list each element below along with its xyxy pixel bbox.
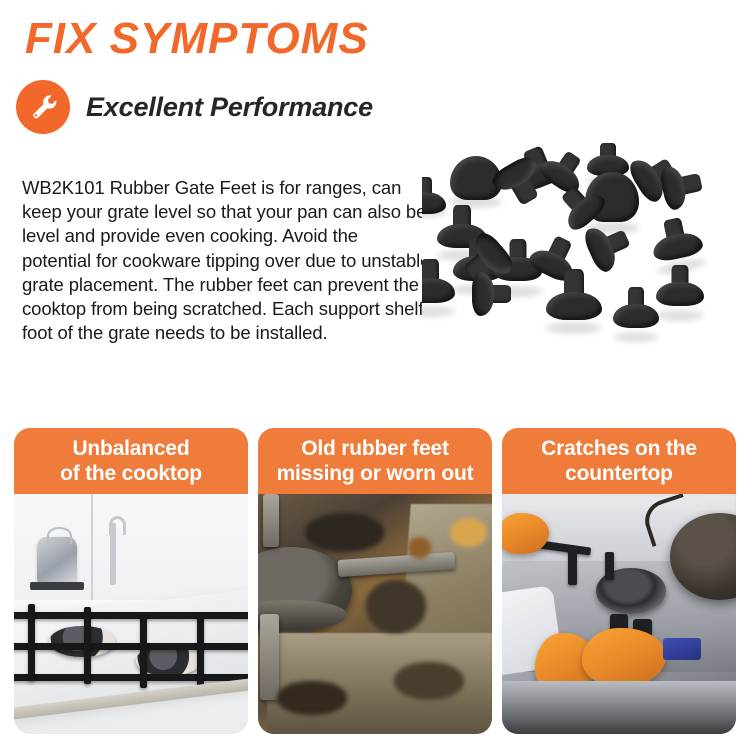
card-title: Old rubber feet missing or worn out bbox=[258, 428, 492, 494]
wrench-icon bbox=[16, 80, 70, 134]
symptom-card-unbalanced[interactable]: Unbalanced of the cooktop bbox=[14, 428, 248, 734]
symptom-card-scratches[interactable]: Cratches on the countertop bbox=[502, 428, 736, 734]
card-title-line1: Old rubber feet bbox=[301, 437, 449, 460]
page-title: FIX SYMPTOMS bbox=[25, 16, 369, 62]
symptom-cards: Unbalanced of the cooktop bbox=[14, 428, 736, 734]
subtitle: Excellent Performance bbox=[86, 92, 373, 123]
description-text: WB2K101 Rubber Gate Feet is for ranges, … bbox=[22, 176, 432, 345]
card-photo-clean-cooktop bbox=[14, 494, 248, 734]
product-image bbox=[422, 142, 740, 354]
promo-page: FIX SYMPTOMS Excellent Performance WB2K1… bbox=[0, 0, 750, 750]
card-title: Unbalanced of the cooktop bbox=[14, 428, 248, 494]
card-title-line1: Cratches on the bbox=[541, 437, 697, 460]
card-title: Cratches on the countertop bbox=[502, 428, 736, 494]
card-photo-dirty-burner bbox=[258, 494, 492, 734]
card-title-line1: Unbalanced bbox=[72, 437, 189, 460]
card-title-line2: of the cooktop bbox=[60, 462, 202, 485]
subtitle-row: Excellent Performance bbox=[16, 80, 373, 134]
card-photo-cleaning-hands bbox=[502, 494, 736, 734]
card-title-line2: missing or worn out bbox=[277, 462, 474, 485]
symptom-card-old-feet[interactable]: Old rubber feet missing or worn out bbox=[258, 428, 492, 734]
card-title-line2: countertop bbox=[565, 462, 673, 485]
